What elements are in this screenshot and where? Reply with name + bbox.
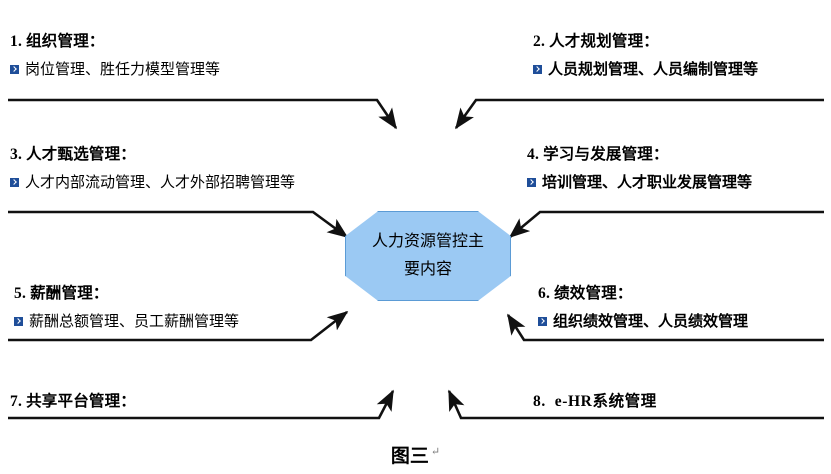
bullet-arrow-icon xyxy=(527,178,536,187)
bullet-arrow-icon xyxy=(538,317,547,326)
node-5-title: 5. 薪酬管理： xyxy=(14,285,239,304)
bullet-arrow-icon xyxy=(10,65,19,74)
node-8-ehr-system-management: 8. e-HR系统管理 xyxy=(533,393,657,412)
node-1-title: 1. 组织管理： xyxy=(10,33,220,52)
node-1-subtext: 岗位管理、胜任力模型管理等 xyxy=(25,61,220,79)
center-octagon-shape: 人力资源管控主要内容 xyxy=(345,211,511,301)
figure-caption-text: 图三 xyxy=(391,446,429,467)
center-octagon-label: 人力资源管控主要内容 xyxy=(365,228,491,284)
diagram-canvas: 1. 组织管理： 岗位管理、胜任力模型管理等 2. 人才规划管理： 人员规划管理… xyxy=(0,0,831,474)
node-3-title: 3. 人才甄选管理： xyxy=(10,146,295,165)
paragraph-mark-icon: ↵ xyxy=(431,446,440,458)
node-4-subtext-row: 培训管理、人才职业发展管理等 xyxy=(527,174,752,192)
node-6-performance-management: 6. 绩效管理： 组织绩效管理、人员绩效管理 xyxy=(538,285,748,331)
node-4-title: 4. 学习与发展管理： xyxy=(527,146,752,165)
node-4-learning-development-management: 4. 学习与发展管理： 培训管理、人才职业发展管理等 xyxy=(527,146,752,192)
node-5-compensation-management: 5. 薪酬管理： 薪酬总额管理、员工薪酬管理等 xyxy=(14,285,239,331)
node-3-subtext-row: 人才内部流动管理、人才外部招聘管理等 xyxy=(10,174,295,192)
node-4-subtext: 培训管理、人才职业发展管理等 xyxy=(542,174,752,192)
node-1-subtext-row: 岗位管理、胜任力模型管理等 xyxy=(10,61,220,79)
node-2-subtext-row: 人员规划管理、人员编制管理等 xyxy=(533,61,758,79)
node-2-talent-planning-management: 2. 人才规划管理： 人员规划管理、人员编制管理等 xyxy=(533,33,758,79)
bullet-arrow-icon xyxy=(10,178,19,187)
node-3-talent-selection-management: 3. 人才甄选管理： 人才内部流动管理、人才外部招聘管理等 xyxy=(10,146,295,192)
node-5-subtext-row: 薪酬总额管理、员工薪酬管理等 xyxy=(14,313,239,331)
node-2-subtext: 人员规划管理、人员编制管理等 xyxy=(548,61,758,79)
node-6-subtext: 组织绩效管理、人员绩效管理 xyxy=(553,313,748,331)
figure-caption: 图三↵ xyxy=(0,441,831,468)
connector-arrow-4 xyxy=(510,212,824,237)
node-6-subtext-row: 组织绩效管理、人员绩效管理 xyxy=(538,313,748,331)
bullet-arrow-icon xyxy=(14,317,23,326)
node-2-title: 2. 人才规划管理： xyxy=(533,33,758,52)
node-7-title: 7. 共享平台管理： xyxy=(10,393,136,412)
node-1-organization-management: 1. 组织管理： 岗位管理、胜任力模型管理等 xyxy=(10,33,220,79)
connector-arrow-1 xyxy=(8,100,396,128)
node-3-subtext: 人才内部流动管理、人才外部招聘管理等 xyxy=(25,174,295,192)
node-7-shared-platform-management: 7. 共享平台管理： xyxy=(10,393,136,412)
connector-arrow-2 xyxy=(456,100,824,128)
node-8-title: 8. e-HR系统管理 xyxy=(533,393,657,412)
bullet-arrow-icon xyxy=(533,65,542,74)
node-5-subtext: 薪酬总额管理、员工薪酬管理等 xyxy=(29,313,239,331)
connector-arrow-3 xyxy=(8,212,347,237)
node-6-title: 6. 绩效管理： xyxy=(538,285,748,304)
